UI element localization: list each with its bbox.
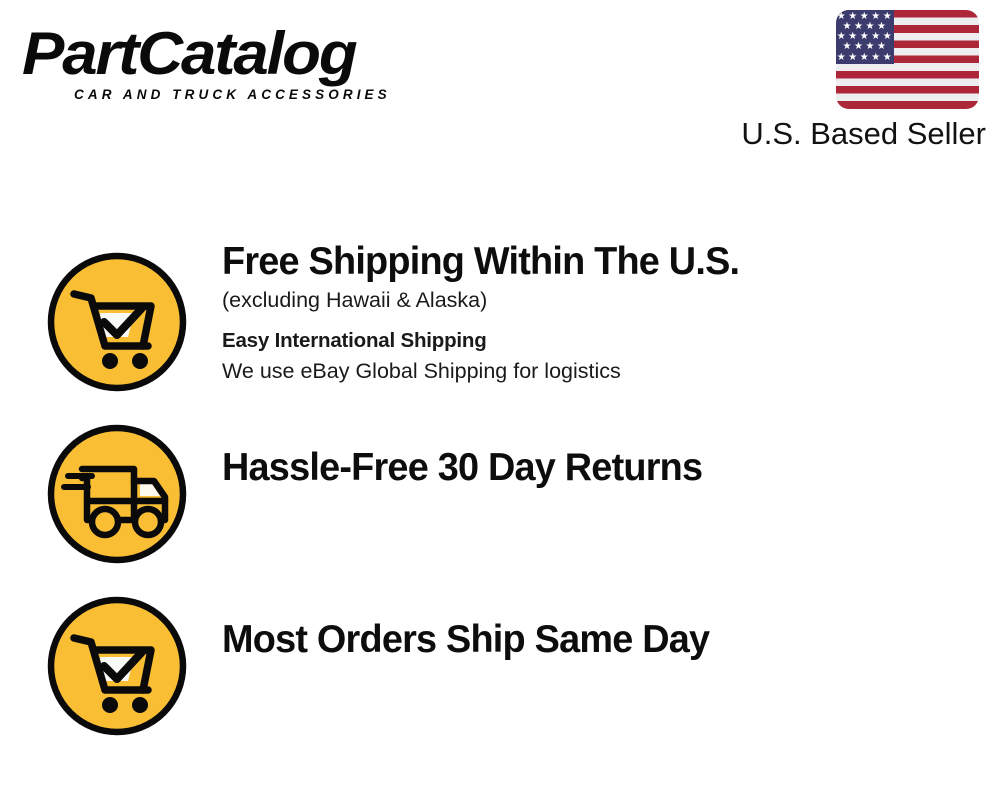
us-flag-icon: ★ ★ ★ ★ ★ ★ ★ ★ ★ ★ ★ ★ ★ ★ ★ ★ ★ ★ ★ ★ xyxy=(836,10,979,109)
brand-tagline: CAR AND TRUCK ACCESSORIES xyxy=(74,87,492,103)
feature-subtitle-international: Easy International Shipping xyxy=(222,325,982,356)
shopping-cart-check-icon xyxy=(44,593,190,739)
feature-item: Free Shipping Within The U.S. (excluding… xyxy=(0,238,1000,398)
feature-item: Most Orders Ship Same Day xyxy=(0,582,1000,742)
brand-wordmark: PartCatalog xyxy=(22,22,520,86)
feature-title: Hassle-Free 30 Day Returns xyxy=(222,444,959,491)
us-based-seller-label: U.S. Based Seller xyxy=(686,115,986,153)
banner-header: PartCatalog CAR AND TRUCK ACCESSORIES ★ … xyxy=(0,0,1000,170)
delivery-truck-icon xyxy=(44,421,190,567)
feature-title: Free Shipping Within The U.S. xyxy=(222,238,959,285)
feature-subtitle-exclusions: (excluding Hawaii & Alaska) xyxy=(222,285,982,316)
shopping-cart-check-icon xyxy=(44,249,190,395)
brand-logo: PartCatalog CAR AND TRUCK ACCESSORIES xyxy=(22,22,492,103)
feature-item: Hassle-Free 30 Day Returns xyxy=(0,410,1000,570)
feature-title: Most Orders Ship Same Day xyxy=(222,616,959,663)
feature-text-group: Most Orders Ship Same Day xyxy=(222,616,982,663)
feature-subtitle-logistics: We use eBay Global Shipping for logistic… xyxy=(222,356,982,387)
flag-stars: ★ ★ ★ ★ ★ ★ ★ ★ ★ ★ ★ ★ ★ ★ ★ ★ ★ ★ ★ ★ xyxy=(836,10,894,64)
us-based-seller-block: ★ ★ ★ ★ ★ ★ ★ ★ ★ ★ ★ ★ ★ ★ ★ ★ ★ ★ ★ ★ xyxy=(686,10,986,153)
feature-text-group: Hassle-Free 30 Day Returns xyxy=(222,444,982,491)
feature-text-group: Free Shipping Within The U.S. (excluding… xyxy=(222,238,982,387)
